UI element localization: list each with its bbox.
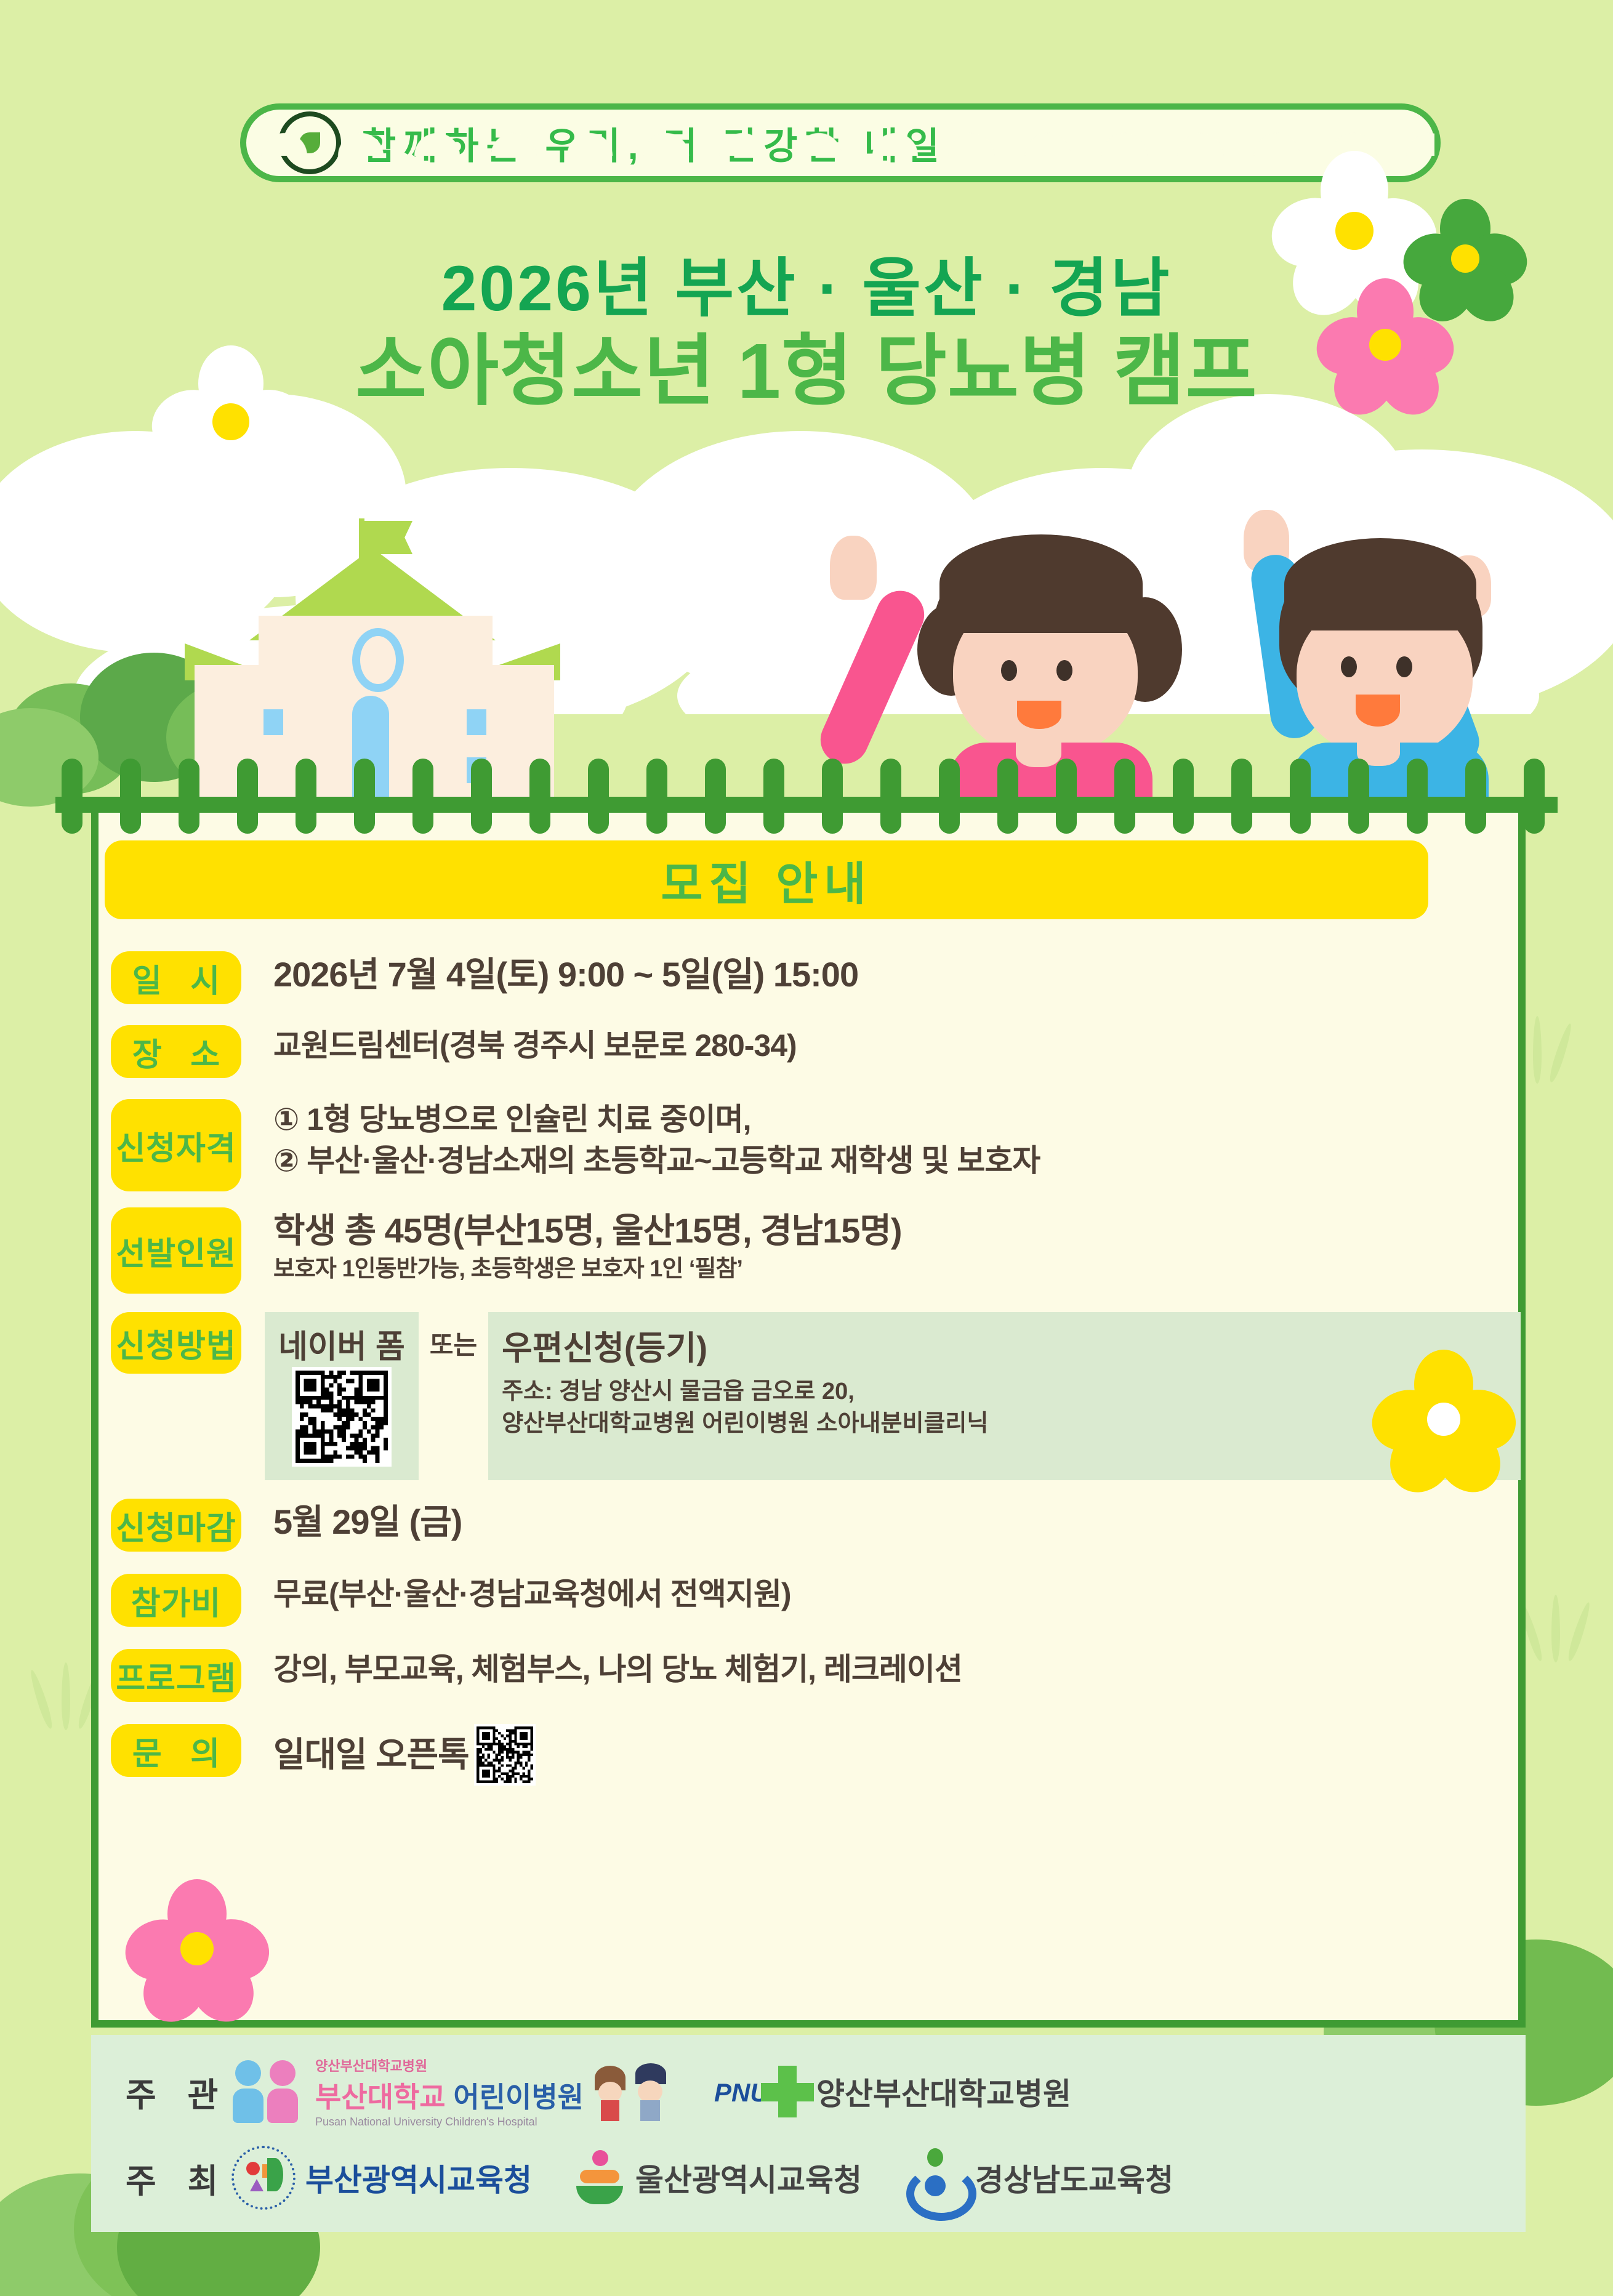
fence-post bbox=[822, 759, 843, 834]
slogan-text: 함께하는 우리, 더 건강한 내일 bbox=[362, 116, 947, 170]
postal-apply-block: 우편신청(등기) 주소: 경남 양산시 물금읍 금오로 20, 양산부산대학교병… bbox=[488, 1312, 1521, 1480]
open-chat-qr-code[interactable] bbox=[474, 1724, 536, 1786]
eligibility-line-2: ② 부산·울산·경남소재의 초등학교~고등학교 재학생 및 보호자 bbox=[273, 1140, 1521, 1182]
children-hospital-name-1: 부산대학교 bbox=[315, 2081, 446, 2113]
footer-org-busan-edu: 부산광역시교육청 bbox=[231, 2146, 532, 2210]
postal-apply-heading: 우편신청(등기) bbox=[502, 1321, 1502, 1369]
yellow-flower-icon bbox=[1379, 1355, 1508, 1484]
footer-org-ulsan-edu: 울산광역시교육청 bbox=[574, 2150, 862, 2205]
section-heading-text: 모집 안내 bbox=[661, 847, 872, 913]
fence-post bbox=[997, 759, 1018, 834]
busan-education-office-logo bbox=[231, 2146, 296, 2210]
fence-post bbox=[1290, 759, 1311, 834]
fence-post bbox=[939, 759, 960, 834]
footer-organizer-label: 주 최 bbox=[108, 2154, 231, 2202]
row-tag-program: 프로그램 bbox=[111, 1649, 241, 1702]
children-hospital-en: Pusan National University Children's Hos… bbox=[315, 2116, 584, 2129]
white-flower-icon bbox=[1281, 157, 1428, 305]
fence-post bbox=[588, 759, 609, 834]
fence-post bbox=[529, 759, 550, 834]
row-tag-quota: 선발인원 bbox=[111, 1207, 241, 1294]
gyeongnam-education-office-logo bbox=[904, 2148, 965, 2207]
info-table: 일 시 2026년 7월 4일(토) 9:00 ~ 5일(일) 15:00 장 … bbox=[111, 951, 1521, 1788]
section-heading: 모집 안내 bbox=[105, 840, 1428, 919]
row-value-fee: 무료(부산·울산·경남교육청에서 전액지원) bbox=[241, 1574, 1521, 1615]
naver-form-block[interactable]: 네이버 폼 bbox=[265, 1312, 419, 1480]
children-hospital-sub: 양산부산대학교병원 bbox=[315, 2055, 584, 2075]
footer-organizer-row: 주 최 부산광역시교육청 울산광역시교육청 bbox=[108, 2135, 1526, 2221]
row-value-deadline: 5월 29일 (금) bbox=[241, 1499, 1521, 1545]
fence-post bbox=[880, 759, 901, 834]
footer-org-children-hospital: 양산부산대학교병원 부산대학교 어린이병원 Pusan National Uni… bbox=[231, 2055, 672, 2129]
footer-host-row: 주 관 양산부산대학교병원 부산대학교 어린이병원 Pusan National… bbox=[108, 2048, 1526, 2135]
row-tag-eligibility: 신청자격 bbox=[111, 1099, 241, 1191]
row-tag-venue: 장 소 bbox=[111, 1025, 241, 1078]
fence-post bbox=[296, 759, 316, 834]
busan-edu-name: 부산광역시교육청 bbox=[305, 2156, 532, 2200]
eligibility-line-1: ① 1형 당뇨병으로 인슐린 치료 중이며, bbox=[273, 1099, 1521, 1140]
table-row: 신청방법 네이버 폼 또는 우편신청(등기) 주소: 경남 양산시 물금읍 금오… bbox=[111, 1312, 1521, 1480]
table-row: 선발인원 학생 총 45명(부산15명, 울산15명, 경남15명) 보호자 1… bbox=[111, 1207, 1521, 1294]
apply-or-label: 또는 bbox=[419, 1312, 488, 1362]
row-value-datetime: 2026년 7월 4일(토) 9:00 ~ 5일(일) 15:00 bbox=[241, 951, 1521, 997]
fence-post bbox=[1114, 759, 1135, 834]
pnu-hospital-name: 양산부산대학교병원 bbox=[816, 2069, 1071, 2114]
table-row: 신청자격 ① 1형 당뇨병으로 인슐린 치료 중이며, ② 부산·울산·경남소재… bbox=[111, 1099, 1521, 1191]
naver-form-label: 네이버 폼 bbox=[278, 1321, 405, 1367]
ulsan-edu-name: 울산광역시교육청 bbox=[635, 2156, 862, 2200]
row-tag-datetime: 일 시 bbox=[111, 951, 241, 1004]
fence-post bbox=[471, 759, 492, 834]
postal-address-line-2: 양산부산대학교병원 어린이병원 소아내분비클리닉 bbox=[502, 1408, 1502, 1440]
pink-flower-icon bbox=[132, 1884, 262, 2013]
children-hospital-name-2: 어린이병원 bbox=[453, 2081, 584, 2113]
fence-post bbox=[646, 759, 667, 834]
naver-form-qr-code[interactable] bbox=[292, 1367, 392, 1467]
gyeongnam-edu-name: 경상남도교육청 bbox=[975, 2156, 1173, 2200]
row-tag-apply-method: 신청방법 bbox=[111, 1312, 241, 1374]
table-row: 장 소 교원드림센터(경북 경주시 보문로 280-34) bbox=[111, 1025, 1521, 1078]
fence-post bbox=[1348, 759, 1369, 834]
clover-emblem-icon bbox=[278, 111, 341, 174]
fence-post bbox=[1407, 759, 1428, 834]
pink-flower-icon bbox=[1324, 283, 1447, 406]
grass-tuft-icon bbox=[1521, 1595, 1595, 1662]
fence-post bbox=[1465, 759, 1486, 834]
ulsan-education-office-logo bbox=[574, 2150, 625, 2205]
fence-post bbox=[1056, 759, 1077, 834]
fence-post bbox=[763, 759, 784, 834]
fence-post bbox=[1173, 759, 1194, 834]
footer-org-pnu-hospital: PNU 양산부산대학교병원 bbox=[714, 2061, 1071, 2122]
row-tag-inquiry: 문 의 bbox=[111, 1724, 241, 1777]
quota-note: 보호자 1인동반가능, 초등학생은 보호자 1인 ‘필참’ bbox=[273, 1254, 1521, 1284]
table-row: 프로그램 강의, 부모교육, 체험부스, 나의 당뇨 체험기, 레크레이션 bbox=[111, 1649, 1521, 1702]
fence-post bbox=[237, 759, 258, 834]
slogan-banner: 함께하는 우리, 더 건강한 내일 bbox=[240, 103, 1441, 182]
fence-post bbox=[179, 759, 199, 834]
table-row: 신청마감 5월 29일 (금) bbox=[111, 1499, 1521, 1552]
postal-address-line-1: 주소: 경남 양산시 물금읍 금오로 20, bbox=[502, 1376, 1502, 1408]
table-row: 일 시 2026년 7월 4일(토) 9:00 ~ 5일(일) 15:00 bbox=[111, 951, 1521, 1004]
footer-org-gyeongnam-edu: 경상남도교육청 bbox=[904, 2148, 1173, 2207]
fence-post bbox=[412, 759, 433, 834]
fence-post bbox=[1524, 759, 1545, 834]
pnu-cross-logo: PNU bbox=[714, 2061, 806, 2122]
row-value-program: 강의, 부모교육, 체험부스, 나의 당뇨 체험기, 레크레이션 bbox=[241, 1649, 1521, 1690]
house-round-window-icon bbox=[352, 628, 404, 692]
fence-post bbox=[62, 759, 82, 834]
footer-host-label: 주 관 bbox=[108, 2068, 231, 2116]
row-value-inquiry: 일대일 오픈톡 bbox=[273, 1731, 469, 1778]
quota-main: 학생 총 45명(부산15명, 울산15명, 경남15명) bbox=[273, 1207, 1521, 1254]
fence-spiral-binding bbox=[0, 759, 1613, 839]
table-row: 문 의 일대일 오픈톡 bbox=[111, 1724, 1521, 1786]
row-value-venue: 교원드림센터(경북 경주시 보문로 280-34) bbox=[241, 1025, 1521, 1066]
table-row: 참가비 무료(부산·울산·경남교육청에서 전액지원) bbox=[111, 1574, 1521, 1627]
fence-post bbox=[1231, 759, 1252, 834]
row-tag-deadline: 신청마감 bbox=[111, 1499, 241, 1552]
hospital-mascot-icon bbox=[592, 2061, 672, 2122]
fence-post bbox=[705, 759, 726, 834]
sponsor-footer: 주 관 양산부산대학교병원 부산대학교 어린이병원 Pusan National… bbox=[91, 2035, 1526, 2232]
fence-post bbox=[120, 759, 141, 834]
fence-post bbox=[354, 759, 375, 834]
white-flower-icon bbox=[160, 351, 302, 493]
row-tag-fee: 참가비 bbox=[111, 1574, 241, 1627]
children-hospital-logo bbox=[231, 2058, 305, 2125]
